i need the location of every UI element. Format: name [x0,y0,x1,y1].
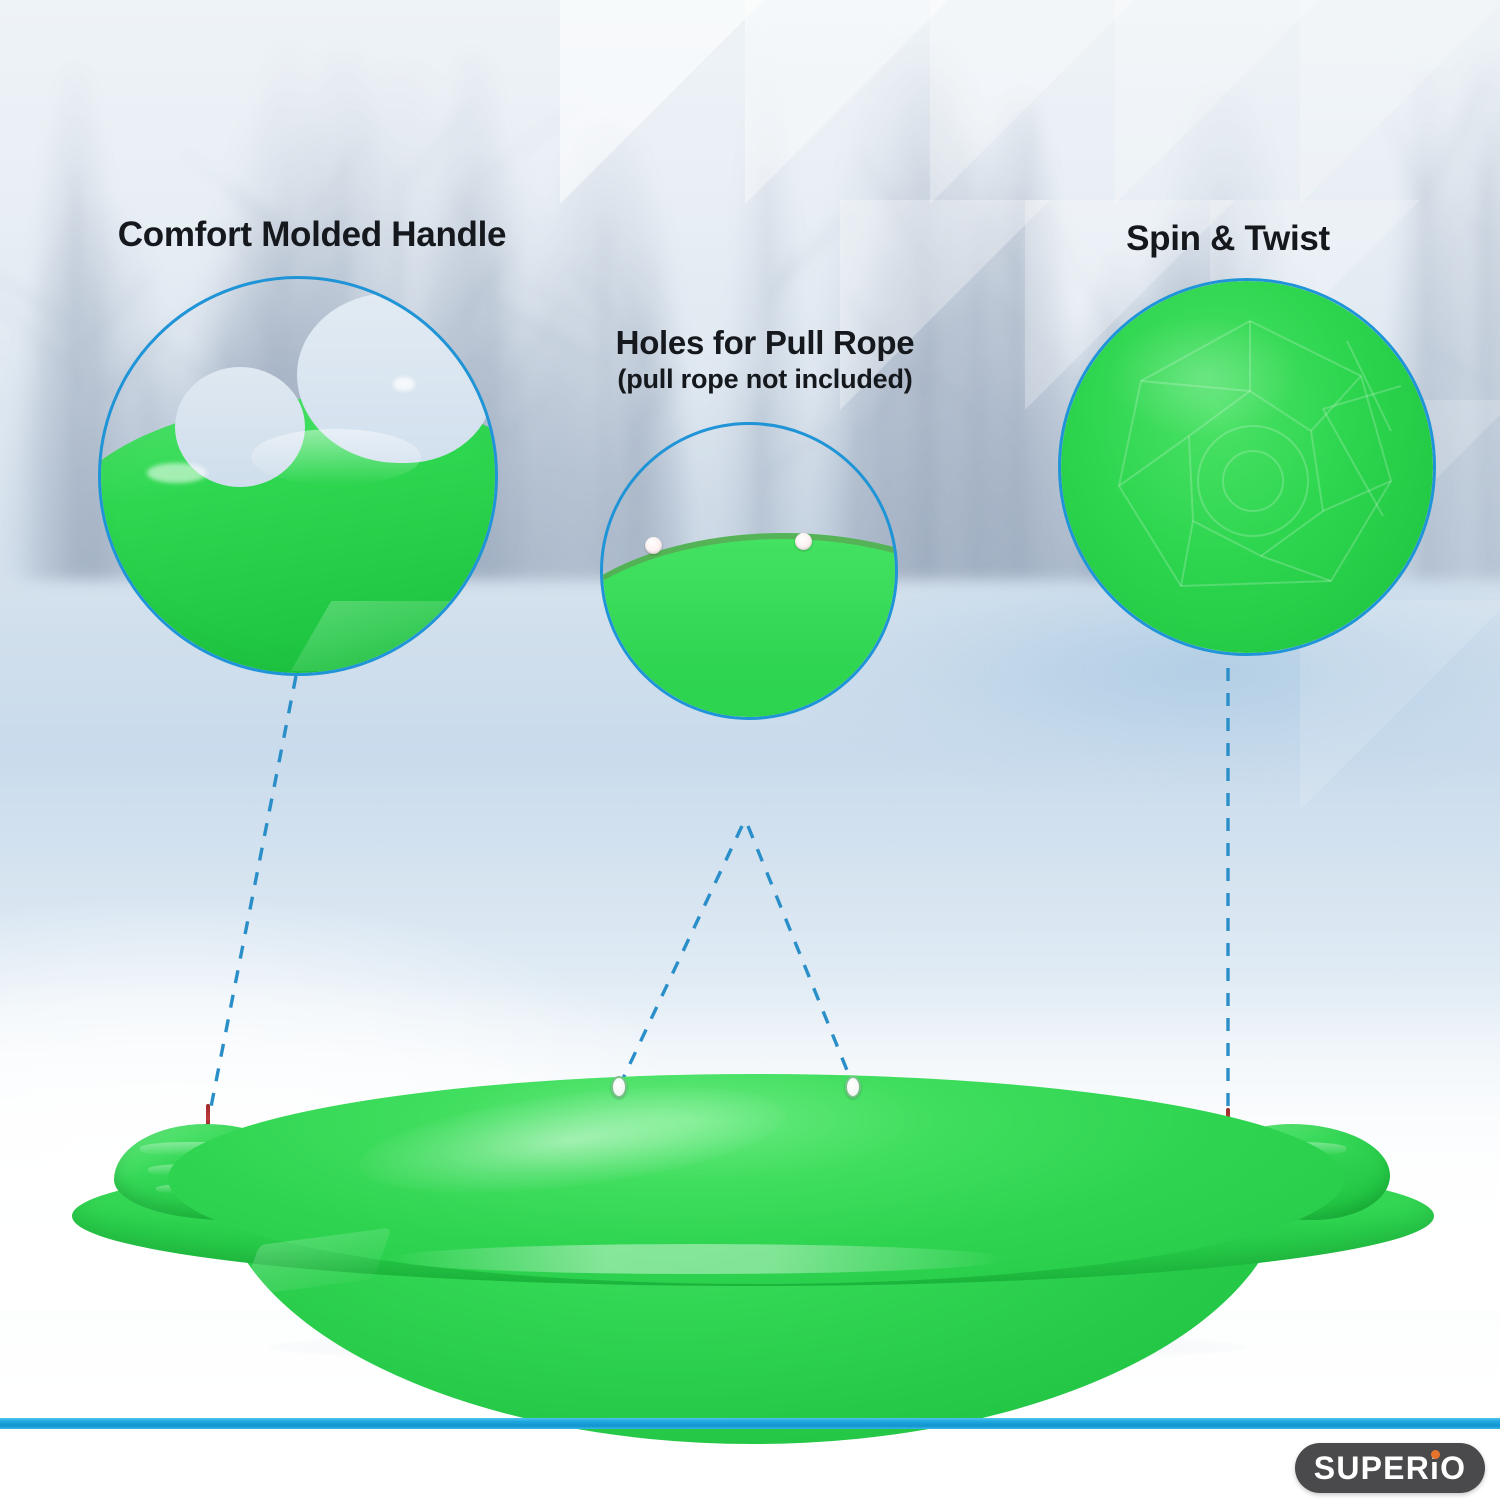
callout-circle-holes-for-pull-rope [600,422,898,720]
holes-closeup-image [603,425,895,717]
infographic-canvas: Comfort Molded Handle Holes for Pull Rop… [0,0,1500,1500]
handle-closeup-image [101,279,495,673]
callout-circle-spin-twist [1058,278,1436,656]
handle-highlight-right [393,377,415,391]
leader-line-handle [210,676,296,1112]
saucer-top-gloss [1109,317,1299,437]
callout-circle-comfort-molded-handle [98,276,498,676]
callout-title-comfort-molded-handle: Comfort Molded Handle [112,216,512,253]
brand-prefix: SUPER [1314,1450,1430,1486]
brand-suffix: O [1440,1450,1466,1486]
sled-edge-closeup-shape [603,533,895,717]
callout-title-text: Holes for Pull Rope [616,324,915,361]
callout-subtitle-text: (pull rope not included) [565,365,965,394]
brand-logo-dot-icon [1431,1450,1440,1459]
leader-line-hole-right [748,826,853,1085]
brand-logo-text: SUPERiO [1314,1452,1466,1484]
footer-divider [0,1418,1500,1429]
handle-finger-ridges [251,429,421,485]
sled-rope-hole-right [845,1076,861,1098]
sled-rim-highlight [388,1244,1008,1274]
saucer-top-closeup-image [1061,281,1433,653]
rope-hole-closeup-right [795,533,812,550]
callout-title-spin-twist: Spin & Twist [1078,220,1378,257]
rope-hole-closeup-left [645,537,662,554]
product-saucer-sled [58,1068,1446,1358]
callout-title-holes-for-pull-rope: Holes for Pull Rope (pull rope not inclu… [565,326,965,394]
handle-highlight-left [147,463,207,483]
sled-rope-hole-left [611,1076,627,1098]
brand-logo: SUPERiO [1295,1443,1485,1493]
leader-line-hole-left [620,826,742,1085]
